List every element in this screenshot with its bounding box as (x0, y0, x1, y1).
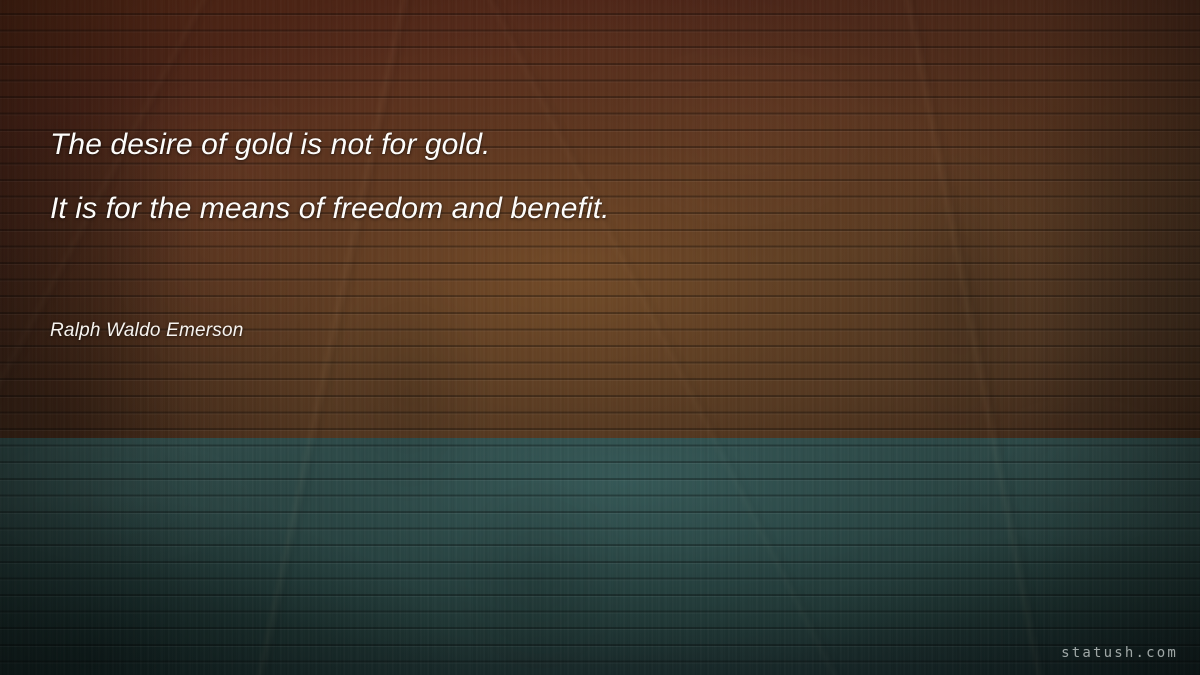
quote-poster: The desire of gold is not for gold. It i… (0, 0, 1200, 675)
quote-text-block: The desire of gold is not for gold. It i… (50, 113, 1140, 241)
background-band-teal (0, 438, 1200, 675)
quote-line-1: The desire of gold is not for gold. (50, 113, 1140, 177)
site-watermark: statush.com (1061, 645, 1178, 661)
quote-author: Ralph Waldo Emerson (50, 320, 244, 342)
quote-line-2: It is for the means of freedom and benef… (50, 177, 1140, 241)
